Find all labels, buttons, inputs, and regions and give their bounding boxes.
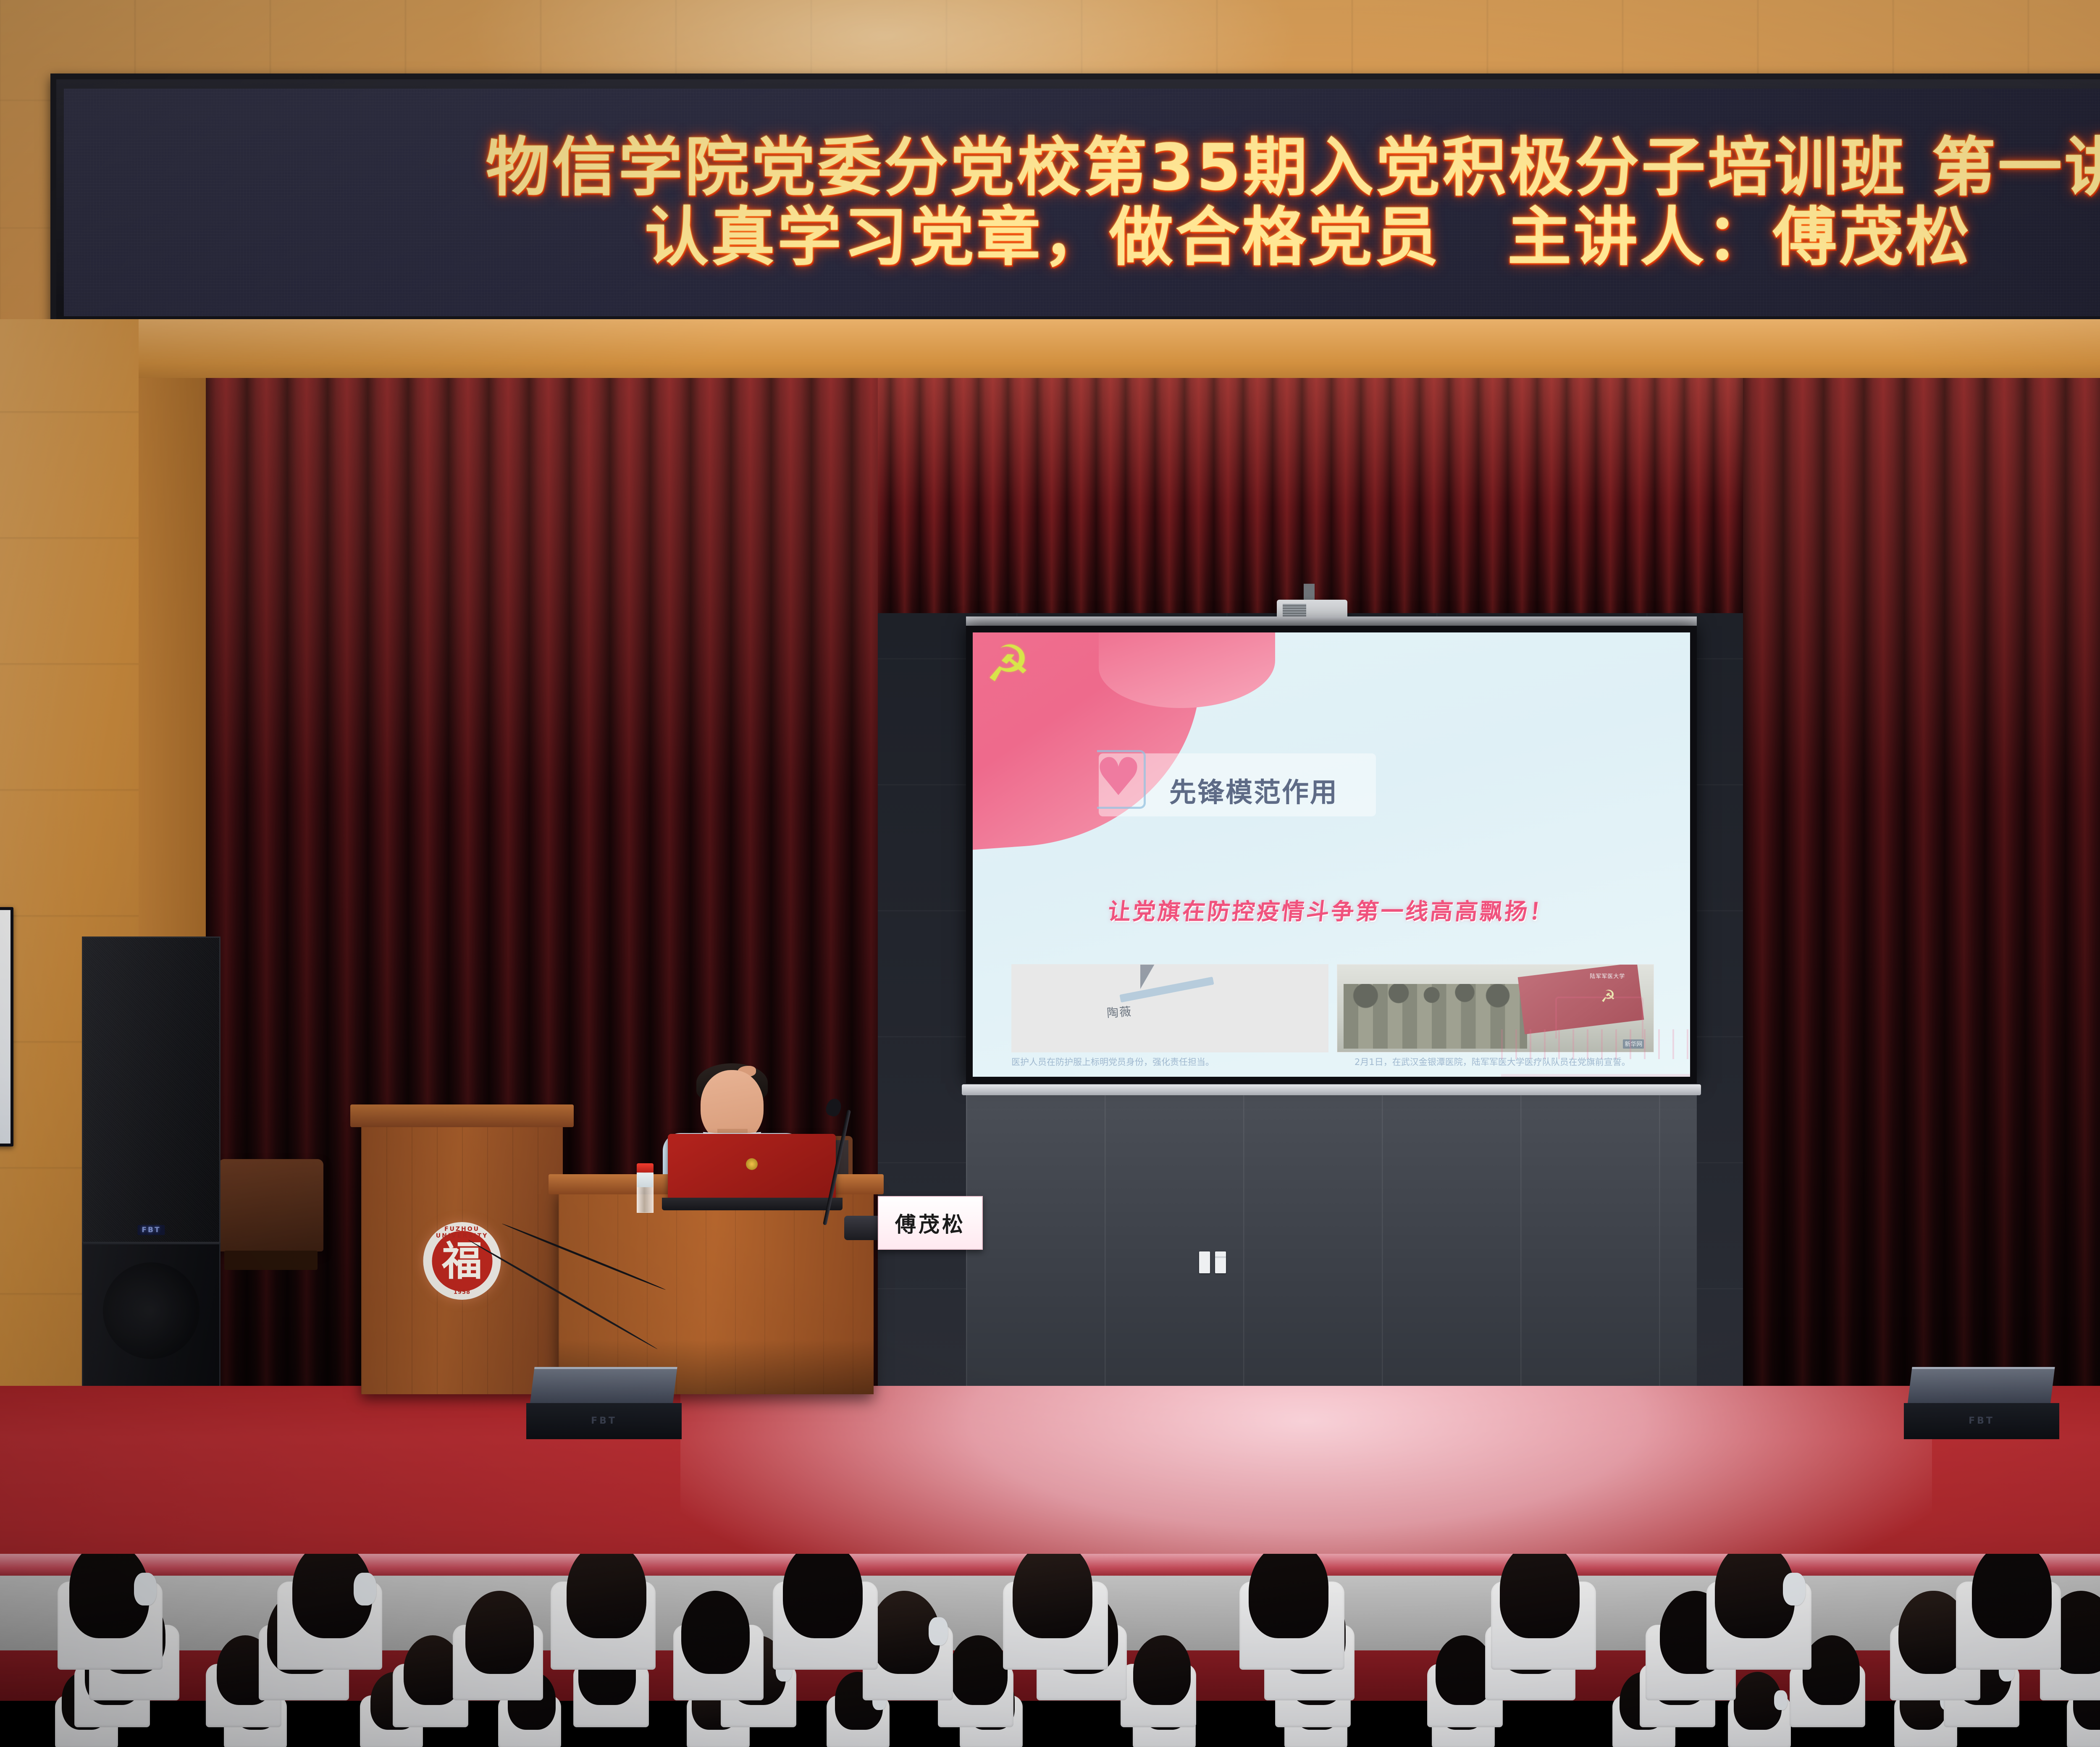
audience-member-head <box>465 1591 534 1674</box>
audience-seating <box>0 1554 2100 1747</box>
laptop-keyboard-base[interactable] <box>662 1198 843 1210</box>
face-mask <box>929 1617 948 1645</box>
lectern: 福 FUZHOU UNIVERSITY 1958 <box>361 1117 563 1394</box>
led-banner-line-1: 物信学院党委分党校第35期入党积极分子培训班 第一讲 <box>486 136 2100 199</box>
wing-chair-left <box>218 1159 323 1251</box>
auditorium-photo: 物信学院党委分党校第35期入党积极分子培训班 第一讲 认真学习党章，做合格党员 … <box>0 0 2100 1747</box>
emblem-fu-character: 福 <box>442 1241 482 1281</box>
medic-ppe-photo <box>1011 964 1328 1052</box>
water-bottle <box>637 1163 654 1213</box>
heart-icon: ♥ <box>1093 753 1144 804</box>
audience-member-head <box>1500 1554 1580 1638</box>
face-mask <box>354 1573 376 1605</box>
emblem-english-name: FUZHOU UNIVERSITY <box>423 1226 501 1239</box>
light-switch-left[interactable] <box>1199 1251 1210 1273</box>
audience-member-head <box>783 1554 863 1638</box>
gray-wall-panel <box>966 1092 1697 1419</box>
slide-heading: 先锋模范作用 <box>1169 771 1338 810</box>
tiananmen-line-art-watermark <box>1501 991 1690 1077</box>
led-banner: 物信学院党委分党校第35期入党积极分子培训班 第一讲 认真学习党章，做合格党员 … <box>50 73 2100 330</box>
laptop-brand-logo-icon <box>746 1158 758 1170</box>
led-banner-line-2: 认真学习党章，做合格党员 主讲人：傅茂松 <box>645 205 1972 269</box>
light-switch-right[interactable] <box>1215 1251 1226 1273</box>
pa-speaker-stack-left: FBT FBT <box>82 936 220 1411</box>
audience-member-head <box>1249 1554 1328 1638</box>
wedge-grille <box>1907 1367 2055 1406</box>
lectern-top-surface <box>350 1104 574 1127</box>
face-mask <box>1774 1690 1788 1710</box>
led-banner-screen: 物信学院党委分党校第35期入党积极分子培训班 第一讲 认真学习党章，做合格党员 … <box>64 89 2100 316</box>
wall-monitor-left <box>0 907 13 1146</box>
stage-curtain-right <box>1743 378 2100 1419</box>
screen-bottom-weight-bar <box>962 1084 1701 1095</box>
soldiers-group <box>1344 984 1527 1049</box>
wedge-front: FBT <box>526 1403 682 1439</box>
face-mask <box>1783 1573 1806 1605</box>
audience-member-head <box>567 1554 646 1638</box>
audience-member-head <box>950 1635 1008 1705</box>
wedge-front: FBT <box>1904 1403 2059 1439</box>
slide-pink-blob-tail <box>1099 632 1275 708</box>
audience-member-head <box>1436 1635 1493 1705</box>
flag-banner-text: 陆军军医大学 <box>1590 972 1625 980</box>
presentation-slide: ☭ ♥ 先锋模范作用 让党旗在防控疫情斗争第一线高高飘扬！ 陆军军医大学 ☭ 新… <box>973 632 1690 1077</box>
wedge-grille <box>530 1367 677 1406</box>
audience-member-head <box>1013 1554 1092 1638</box>
fbt-brand-logo: FBT <box>137 1225 165 1235</box>
audience-member-head <box>1133 1635 1191 1705</box>
speaker-nameplate: 傅茂松 <box>878 1196 983 1250</box>
stage-monitor-wedge-right: FBT <box>1900 1367 2064 1438</box>
photo-caption-1: 医护人员在防护服上标明党员身份，强化责任担当。 <box>1011 1056 1328 1068</box>
bottle-body <box>637 1173 654 1213</box>
laptop[interactable] <box>668 1134 836 1209</box>
emblem-founding-year: 1958 <box>423 1289 501 1296</box>
fbt-brand-logo: FBT <box>1964 1415 1999 1427</box>
fuzhou-university-emblem: 福 FUZHOU UNIVERSITY 1958 <box>423 1222 501 1300</box>
party-emblem-icon: ☭ <box>984 642 1032 690</box>
slide-slogan: 让党旗在防控疫情斗争第一线高高飘扬！ <box>973 893 1690 926</box>
fbt-brand-logo: FBT <box>587 1415 621 1427</box>
laptop-lid <box>668 1134 836 1201</box>
bottle-cap <box>637 1163 654 1173</box>
audience-member-head <box>1972 1554 2052 1638</box>
audience-member-head <box>681 1591 750 1674</box>
stage-monitor-wedge-left: FBT <box>523 1367 687 1438</box>
projection-screen: ☭ ♥ 先锋模范作用 让党旗在防控疫情斗争第一线高高飘扬！ 陆军军医大学 ☭ 新… <box>966 626 1697 1083</box>
face-mask <box>134 1573 157 1605</box>
wall-monitor-left-screen <box>0 910 10 1144</box>
speaker-name: 傅茂松 <box>895 1208 966 1238</box>
proscenium-header-beam <box>0 319 2100 382</box>
audience-member-head <box>1715 1554 1795 1638</box>
pa-speaker-top-left: FBT <box>82 936 220 1243</box>
bottle-label <box>637 1173 653 1187</box>
